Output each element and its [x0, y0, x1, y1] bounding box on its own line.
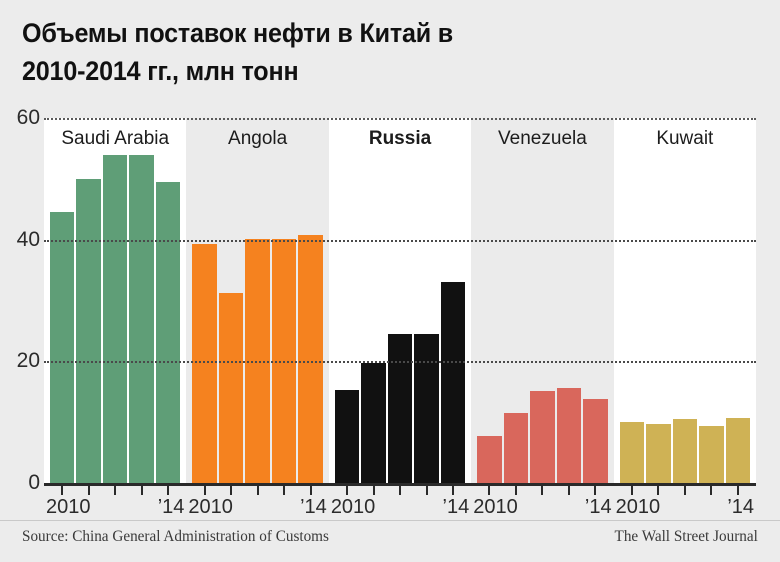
bar — [620, 422, 644, 483]
tick-mark — [441, 486, 465, 495]
tick-mark — [272, 486, 296, 495]
tick-group — [471, 486, 613, 495]
tick-group — [329, 486, 471, 495]
bar — [298, 235, 322, 483]
x-tick-label-first: 2010 — [331, 496, 376, 519]
tick-mark — [129, 486, 153, 495]
tick-mark — [76, 486, 100, 495]
bar — [726, 418, 750, 483]
panel-kuwait: Kuwait — [614, 118, 756, 483]
publisher-credit: The Wall Street Journal — [615, 528, 758, 546]
bar-group — [192, 118, 322, 483]
y-tick-label: 0 — [28, 472, 40, 493]
tick-mark — [388, 486, 412, 495]
gridline — [44, 240, 756, 242]
tick-group — [186, 486, 328, 495]
bar — [219, 293, 243, 483]
bar — [414, 334, 438, 483]
footer: Source: China General Administration of … — [0, 528, 780, 558]
bar — [557, 388, 581, 484]
x-tick-label-first: 2010 — [473, 496, 518, 519]
bar — [699, 426, 723, 483]
gridline — [44, 361, 756, 363]
x-tick-label-last: ’14 — [727, 496, 754, 519]
bar — [129, 155, 153, 484]
tick-mark — [699, 486, 723, 495]
bar — [335, 390, 359, 483]
chart-page: Объемы поставок нефти в Китай в 2010-201… — [0, 0, 780, 562]
x-tick-label-last: ’14 — [300, 496, 327, 519]
x-tick-label-first: 2010 — [188, 496, 233, 519]
bar — [388, 334, 412, 483]
panel-saudi-arabia: Saudi Arabia — [44, 118, 186, 483]
bar — [50, 212, 74, 483]
tick-mark — [192, 486, 216, 495]
tick-mark — [620, 486, 644, 495]
tick-mark — [557, 486, 581, 495]
tick-mark — [646, 486, 670, 495]
bar — [156, 182, 180, 483]
tick-mark — [219, 486, 243, 495]
page-title: Объемы поставок нефти в Китай в 2010-201… — [22, 14, 673, 90]
x-tick-label-last: ’14 — [585, 496, 612, 519]
y-tick-label: 40 — [17, 229, 40, 250]
tick-group — [614, 486, 756, 495]
bar — [192, 244, 216, 483]
panel-angola: Angola — [186, 118, 328, 483]
panel-russia: Russia — [329, 118, 471, 483]
bar-group — [50, 118, 180, 483]
tick-mark — [726, 486, 750, 495]
x-axis-ticks — [44, 486, 756, 495]
tick-mark — [103, 486, 127, 495]
panel-row: Saudi ArabiaAngolaRussiaVenezuelaKuwait — [44, 118, 756, 483]
tick-mark — [361, 486, 385, 495]
tick-mark — [298, 486, 322, 495]
bar — [583, 399, 607, 483]
tick-mark — [50, 486, 74, 495]
bar — [361, 363, 385, 483]
bar — [477, 436, 501, 483]
chart-area: 0204060 Saudi ArabiaAngolaRussiaVenezuel… — [0, 118, 780, 518]
x-tick-label-first: 2010 — [46, 496, 91, 519]
bar — [673, 419, 697, 483]
tick-mark — [530, 486, 554, 495]
x-tick-label-first: 2010 — [616, 496, 661, 519]
bar-group — [620, 118, 750, 483]
tick-mark — [477, 486, 501, 495]
panel-venezuela: Venezuela — [471, 118, 613, 483]
source-note: Source: China General Administration of … — [22, 528, 329, 546]
tick-mark — [673, 486, 697, 495]
bar — [530, 391, 554, 483]
footer-divider — [0, 520, 780, 521]
tick-group — [44, 486, 186, 495]
bar — [103, 155, 127, 484]
tick-mark — [583, 486, 607, 495]
bar — [504, 413, 528, 483]
y-axis-labels: 0204060 — [0, 118, 44, 518]
x-tick-label-last: ’14 — [158, 496, 185, 519]
bar — [646, 424, 670, 483]
tick-mark — [414, 486, 438, 495]
y-tick-label: 20 — [17, 350, 40, 371]
bar-group — [477, 118, 607, 483]
y-tick-label: 60 — [17, 107, 40, 128]
bar — [76, 179, 100, 483]
tick-mark — [156, 486, 180, 495]
tick-mark — [504, 486, 528, 495]
tick-mark — [245, 486, 269, 495]
x-tick-label-last: ’14 — [443, 496, 470, 519]
bar-group — [335, 118, 465, 483]
bar — [441, 282, 465, 483]
gridline — [44, 118, 756, 120]
tick-mark — [335, 486, 359, 495]
plot-region: Saudi ArabiaAngolaRussiaVenezuelaKuwait … — [44, 118, 756, 518]
